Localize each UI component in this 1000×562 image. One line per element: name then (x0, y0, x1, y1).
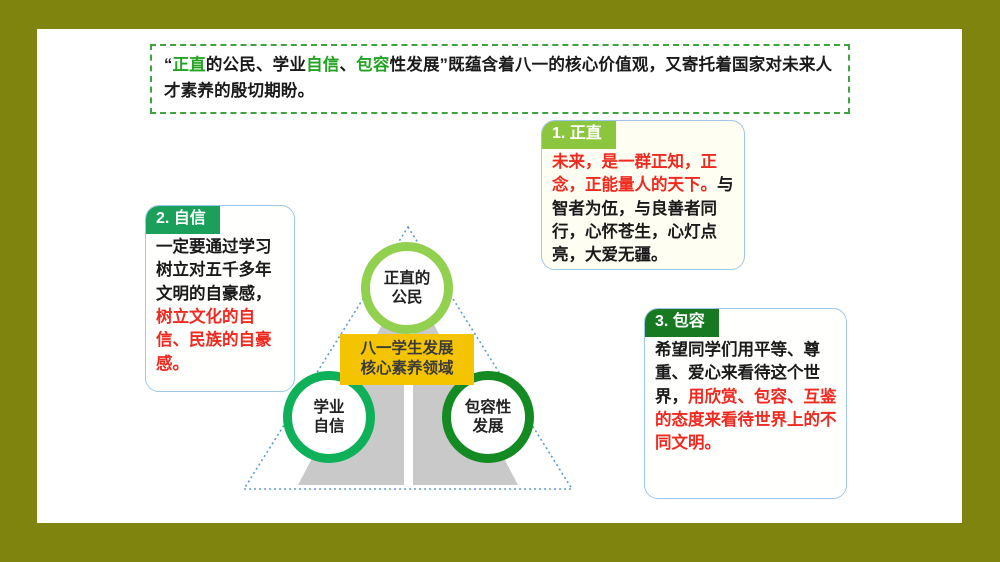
banner-segment-3: 性发展”既蕴含着八一的核心价值观，又寄托 (390, 56, 716, 74)
card1-header: 1. 正直 (542, 121, 616, 149)
card2-body-black: 一定要通过学习树立对五千多年文明的自豪感， (156, 238, 272, 303)
card2-body-red: 树立文化的自信、民族的自豪感。 (156, 308, 272, 373)
banner-keyword-baorong: 包容 (356, 56, 389, 74)
card3-header: 3. 包容 (645, 309, 719, 337)
diagram-center-label: 八一学生发展 核心素养领域 (340, 334, 474, 385)
card1-body: 未来，是一群正知，正念，正能量人的天下。与智者为伍，与良善者同行，心怀苍生，心灯… (542, 149, 744, 270)
circle-upright-citizen[interactable]: 正直的 公民 (361, 242, 453, 334)
circle-right-line1: 包容性 (465, 398, 512, 417)
callout-card-zixin[interactable]: 2. 自信 一定要通过学习树立对五千多年文明的自豪感，树立文化的自信、民族的自豪… (145, 205, 295, 392)
banner-keyword-zixin: 自信 (306, 56, 339, 74)
center-label-line2: 核心素养领域 (340, 359, 474, 379)
banner-segment-2: 、 (339, 56, 356, 74)
circle-top-line1: 正直的 (384, 269, 431, 288)
circle-top-line2: 公民 (391, 288, 422, 307)
banner-segment-1: 的公民、学业 (206, 56, 306, 74)
callout-card-baorong[interactable]: 3. 包容 希望同学们用平等、尊重、爱心来看待这个世界，用欣赏、包容、互鉴的态度… (644, 308, 847, 499)
callout-card-zhengzhi[interactable]: 1. 正直 未来，是一群正知，正念，正能量人的天下。与智者为伍，与良善者同行，心… (541, 120, 745, 270)
card2-body: 一定要通过学习树立对五千多年文明的自豪感，树立文化的自信、民族的自豪感。 (146, 234, 294, 383)
circle-left-line1: 学业 (313, 398, 344, 417)
card2-header: 2. 自信 (146, 206, 220, 234)
banner-keyword-zhengzhi: 正直 (172, 56, 205, 74)
circle-right-line2: 发展 (472, 417, 503, 436)
slide-canvas: “正直的公民、学业自信、包容性发展”既蕴含着八一的核心价值观，又寄托着国家对未来… (37, 29, 962, 523)
center-label-line1: 八一学生发展 (340, 339, 474, 359)
circle-left-line2: 自信 (313, 417, 344, 436)
card1-body-red: 未来，是一群正知，正念，正能量人的天下。 (552, 153, 717, 194)
card3-body: 希望同学们用平等、尊重、爱心来看待这个世界，用欣赏、包容、互鉴的态度来看待世界上… (645, 337, 846, 462)
banner-text-box: “正直的公民、学业自信、包容性发展”既蕴含着八一的核心价值观，又寄托着国家对未来… (150, 44, 850, 114)
